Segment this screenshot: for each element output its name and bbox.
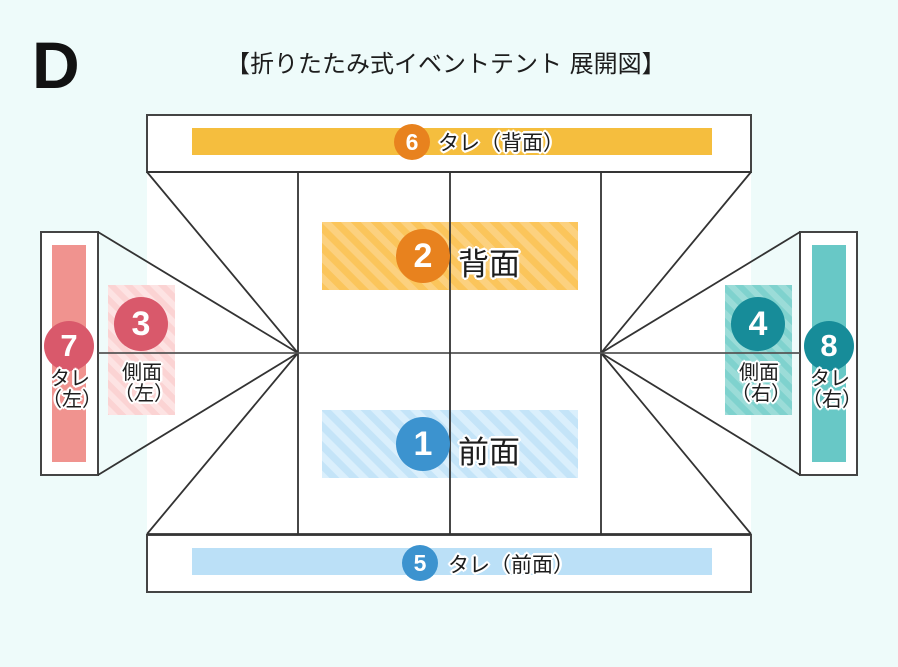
- label-side-left-line2: （左）: [114, 383, 170, 404]
- label-front-panel: 前面: [458, 427, 520, 472]
- badge-1: 1: [396, 417, 450, 471]
- label-valance-right-line2: （右）: [802, 389, 858, 410]
- badge-6-number: 6: [406, 129, 419, 156]
- label-valance-left-line2: （左）: [42, 389, 98, 410]
- diagram-root: D 【折りたたみ式イベントテント 展開図】: [0, 0, 898, 667]
- label-side-right-line2: （右）: [731, 383, 787, 404]
- label-valance-front: タレ（前面）: [448, 549, 574, 579]
- label-valance-right-line1: タレ: [807, 368, 853, 389]
- badge-3: 3: [114, 297, 168, 351]
- badge-1-number: 1: [414, 425, 433, 464]
- badge-7-number: 7: [60, 328, 77, 364]
- badge-2: 2: [396, 229, 450, 283]
- label-valance-back: タレ（背面）: [438, 127, 564, 157]
- badge-4: 4: [731, 297, 785, 351]
- badge-7: 7: [44, 321, 94, 371]
- label-valance-left-line1: タレ: [47, 368, 93, 389]
- badge-5-number: 5: [414, 550, 427, 577]
- label-side-right-line1: 側面: [736, 362, 782, 383]
- badge-8-number: 8: [820, 328, 837, 364]
- badge-6: 6: [394, 124, 430, 160]
- badge-3-number: 3: [132, 305, 151, 344]
- label-back-panel: 背面: [458, 239, 520, 284]
- badge-8: 8: [804, 321, 854, 371]
- badge-4-number: 4: [749, 305, 768, 344]
- badge-2-number: 2: [414, 237, 433, 276]
- badge-5: 5: [402, 545, 438, 581]
- label-side-left-line1: 側面: [119, 362, 165, 383]
